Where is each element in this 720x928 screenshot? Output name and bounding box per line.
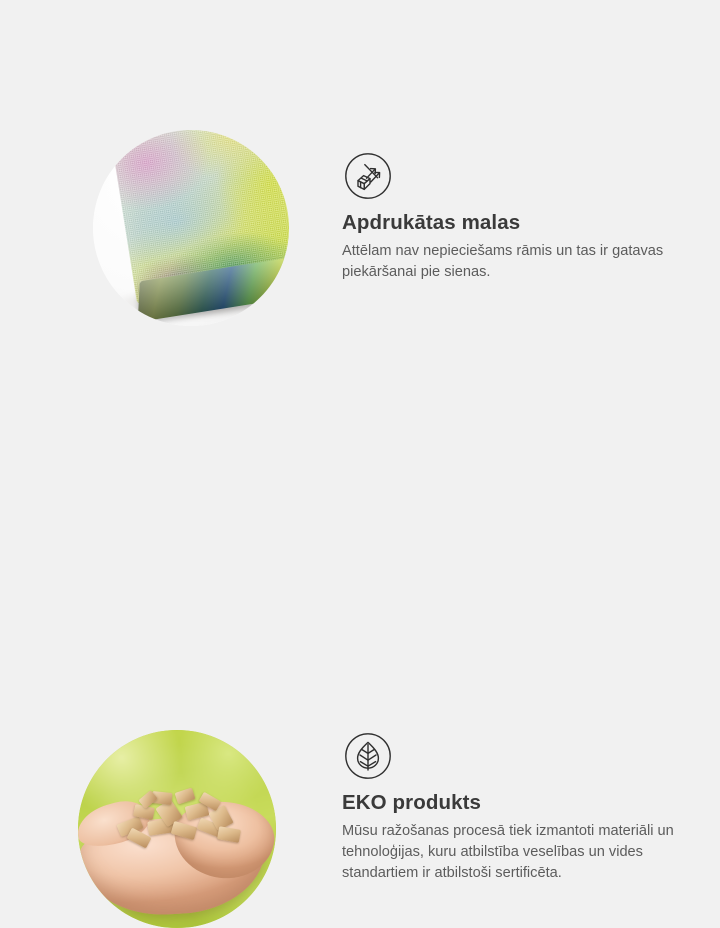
leaf-vein-right-1: [368, 750, 374, 754]
leaf-vein-left-1: [362, 750, 368, 754]
feature-text-printed-edges: Apdrukātas malas Attēlam nav nepieciešam…: [342, 210, 682, 283]
canvas-folded-edge-arrows-icon: [344, 152, 392, 200]
feature-printed-edges: Apdrukātas malas Attēlam nav nepieciešam…: [0, 0, 720, 340]
feature-body: Attēlam nav nepieciešams rāmis un tas ir…: [342, 241, 682, 283]
feature-text-eko-product: EKO produkts Mūsu ražošanas procesā tiek…: [342, 790, 682, 884]
product-features-page: Apdrukātas malas Attēlam nav nepieciešam…: [0, 0, 720, 720]
canvas-object: [111, 130, 289, 326]
hands-group: [78, 792, 276, 922]
leaf-icon: [344, 732, 392, 780]
feature-eko-product: EKO produkts Mūsu ražošanas procesā tiek…: [0, 340, 720, 680]
leaf-vein-right-2: [368, 755, 376, 760]
wood-chips-pile: [114, 790, 246, 860]
leaf-vein-left-2: [360, 755, 368, 760]
feature-title: EKO produkts: [342, 790, 682, 816]
edge-rib-2: [361, 178, 366, 181]
canvas-print-corner-photo: [93, 130, 289, 326]
feature-title: Apdrukātas malas: [342, 210, 682, 236]
hands-holding-wood-chips-photo: [78, 730, 276, 928]
feature-body: Mūsu ražošanas procesā tiek izmantoti ma…: [342, 821, 682, 884]
